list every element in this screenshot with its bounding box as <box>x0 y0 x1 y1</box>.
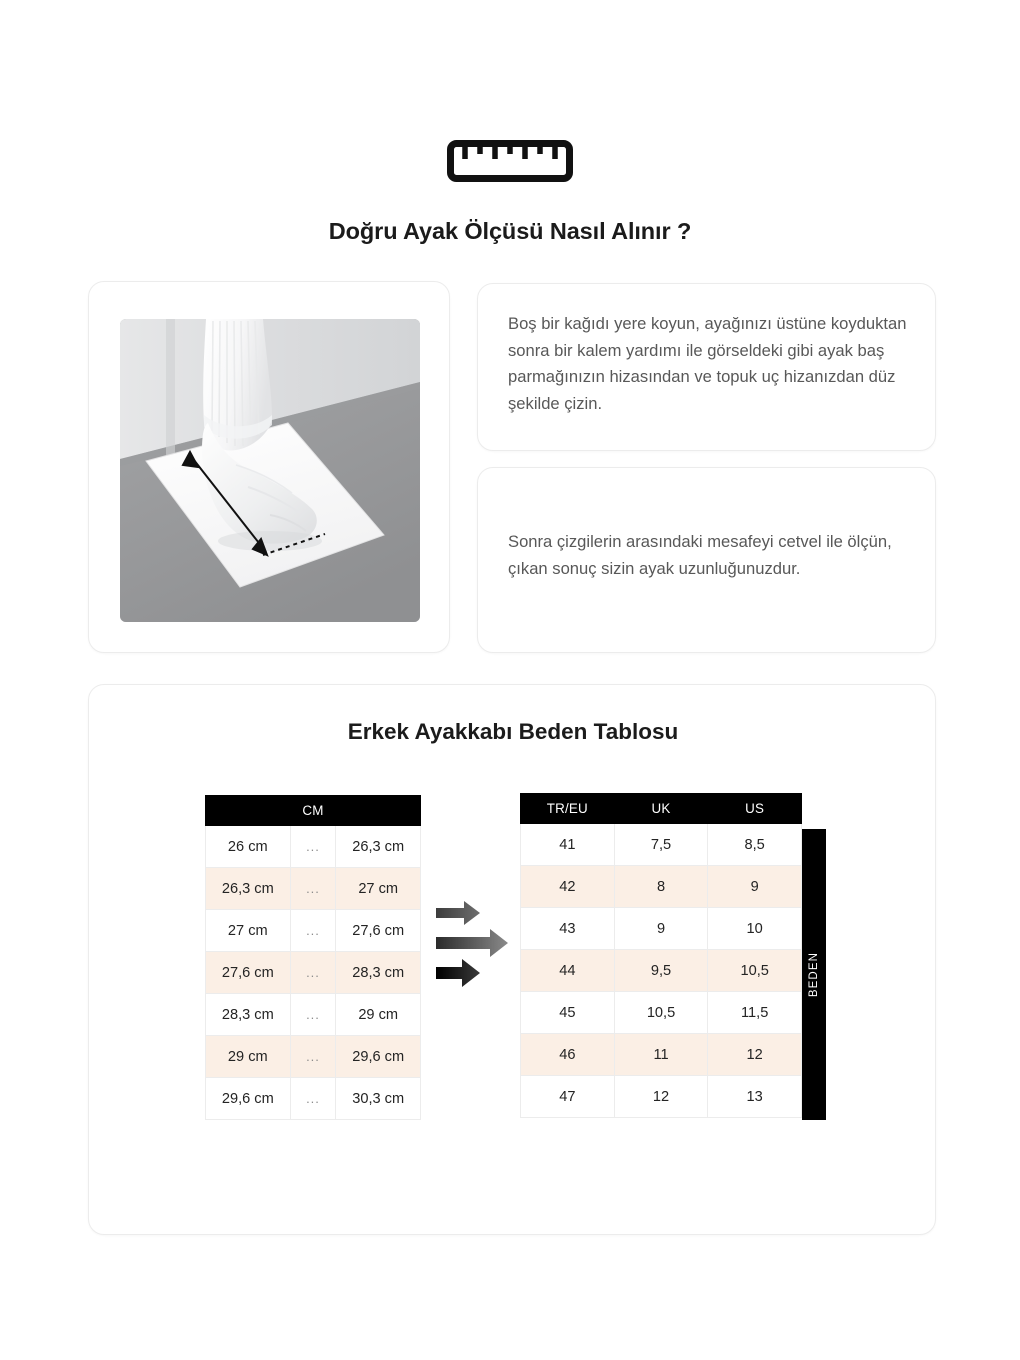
cm-table-row: 29,6 cm...30,3 cm <box>206 1078 421 1120</box>
foot-measurement-photo <box>120 319 420 622</box>
cm-from-cell: 29,6 cm <box>206 1078 291 1120</box>
instruction-card-2: Sonra çizgilerin arasındaki mesafeyi cet… <box>477 467 936 653</box>
cm-table-header-row: CM <box>206 796 421 826</box>
cm-to-cell: 29,6 cm <box>336 1036 421 1078</box>
size-cell-us: 12 <box>708 1034 802 1076</box>
size-cell-tr-eu: 47 <box>521 1076 615 1118</box>
size-cell-us: 11,5 <box>708 992 802 1034</box>
size-table-row: 449,510,5 <box>521 950 802 992</box>
cm-separator-cell: ... <box>290 1078 336 1120</box>
beden-vertical-label: BEDEN <box>802 829 826 1120</box>
size-table-row: 417,58,5 <box>521 824 802 866</box>
three-right-arrows-icon <box>434 898 514 988</box>
cm-table-row: 26 cm...26,3 cm <box>206 826 421 868</box>
cm-to-cell: 27,6 cm <box>336 910 421 952</box>
photo-card <box>88 281 450 653</box>
cm-range-table: CM 26 cm...26,3 cm26,3 cm...27 cm27 cm..… <box>205 795 421 1120</box>
cm-separator-cell: ... <box>290 826 336 868</box>
size-cell-us: 13 <box>708 1076 802 1118</box>
cm-from-cell: 28,3 cm <box>206 994 291 1036</box>
cm-from-cell: 27,6 cm <box>206 952 291 994</box>
size-cell-tr-eu: 41 <box>521 824 615 866</box>
size-table-header-tr-eu: TR/EU <box>521 794 615 824</box>
size-table-title: Erkek Ayakkabı Beden Tablosu <box>89 719 937 745</box>
size-cell-uk: 8 <box>614 866 708 908</box>
cm-to-cell: 28,3 cm <box>336 952 421 994</box>
page-title: Doğru Ayak Ölçüsü Nasıl Alınır ? <box>0 218 1020 245</box>
size-cell-uk: 9,5 <box>614 950 708 992</box>
size-cell-tr-eu: 42 <box>521 866 615 908</box>
size-cell-uk: 11 <box>614 1034 708 1076</box>
size-cell-tr-eu: 46 <box>521 1034 615 1076</box>
cm-to-cell: 27 cm <box>336 868 421 910</box>
cm-to-cell: 30,3 cm <box>336 1078 421 1120</box>
size-guide-page: Doğru Ayak Ölçüsü Nasıl Alınır ? <box>0 0 1020 1360</box>
cm-table-header: CM <box>206 796 421 826</box>
cm-table-row: 29 cm...29,6 cm <box>206 1036 421 1078</box>
cm-table-row: 28,3 cm...29 cm <box>206 994 421 1036</box>
size-table-header-row: TR/EUUKUS <box>521 794 802 824</box>
size-cell-us: 10 <box>708 908 802 950</box>
size-table-row: 4289 <box>521 866 802 908</box>
size-table-header-uk: UK <box>614 794 708 824</box>
size-table-row: 461112 <box>521 1034 802 1076</box>
size-table-row: 43910 <box>521 908 802 950</box>
size-table-header-us: US <box>708 794 802 824</box>
cm-to-cell: 29 cm <box>336 994 421 1036</box>
size-cell-us: 8,5 <box>708 824 802 866</box>
cm-table-row: 27,6 cm...28,3 cm <box>206 952 421 994</box>
instruction-text-1: Boş bir kağıdı yere koyun, ayağınızı üst… <box>508 311 909 417</box>
instruction-card-1: Boş bir kağıdı yere koyun, ayağınızı üst… <box>477 283 936 451</box>
size-table-card: Erkek Ayakkabı Beden Tablosu CM 26 cm...… <box>88 684 936 1235</box>
ruler-icon <box>447 140 573 187</box>
size-cell-uk: 9 <box>614 908 708 950</box>
cm-from-cell: 27 cm <box>206 910 291 952</box>
cm-separator-cell: ... <box>290 1036 336 1078</box>
beden-label-text: BEDEN <box>808 952 820 997</box>
size-cell-us: 9 <box>708 866 802 908</box>
size-table-row: 4510,511,5 <box>521 992 802 1034</box>
size-cell-tr-eu: 45 <box>521 992 615 1034</box>
cm-from-cell: 26 cm <box>206 826 291 868</box>
size-cell-us: 10,5 <box>708 950 802 992</box>
size-cell-tr-eu: 43 <box>521 908 615 950</box>
cm-separator-cell: ... <box>290 994 336 1036</box>
size-cell-uk: 12 <box>614 1076 708 1118</box>
cm-separator-cell: ... <box>290 910 336 952</box>
size-cell-tr-eu: 44 <box>521 950 615 992</box>
size-cell-uk: 10,5 <box>614 992 708 1034</box>
cm-separator-cell: ... <box>290 952 336 994</box>
cm-separator-cell: ... <box>290 868 336 910</box>
ruler-icon-container <box>0 140 1020 187</box>
size-cell-uk: 7,5 <box>614 824 708 866</box>
instruction-text-2: Sonra çizgilerin arasındaki mesafeyi cet… <box>508 529 909 582</box>
cm-from-cell: 29 cm <box>206 1036 291 1078</box>
cm-from-cell: 26,3 cm <box>206 868 291 910</box>
cm-to-cell: 26,3 cm <box>336 826 421 868</box>
cm-table-row: 27 cm...27,6 cm <box>206 910 421 952</box>
cm-table-row: 26,3 cm...27 cm <box>206 868 421 910</box>
shoe-size-table: TR/EUUKUS 417,58,5428943910449,510,54510… <box>520 793 802 1118</box>
size-table-row: 471213 <box>521 1076 802 1118</box>
